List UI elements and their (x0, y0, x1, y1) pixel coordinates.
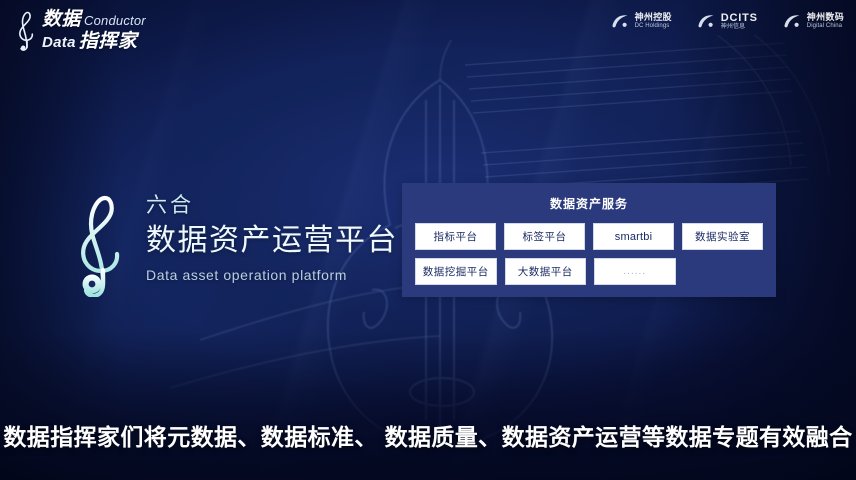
brand-logo: 数据 Conductor Data 指挥家 (14, 9, 146, 51)
data-asset-service-panel: 数据资产服务 指标平台 标签平台 smartbi 数据实验室 数据挖掘平台 大数… (402, 183, 776, 297)
brand-cn-2: 指挥家 (79, 32, 138, 51)
partner-logo-dc-holdings: 神州控股 DC Holdings (610, 11, 672, 31)
product-title-block: 六合 数据资产运营平台 Data asset operation platfor… (72, 188, 398, 297)
partner-cn-label: 神州数码 (807, 13, 844, 23)
service-tile-data-lab[interactable]: 数据实验室 (682, 223, 763, 250)
service-tile-more[interactable]: ...... (594, 258, 676, 285)
partner-cn-label: 神州控股 (635, 13, 672, 23)
brand-en-data: Data (42, 35, 76, 50)
service-tile-data-mining-platform[interactable]: 数据挖掘平台 (415, 258, 497, 285)
partner-logo-dcits: DCITS 神州信息 (696, 11, 758, 31)
partner-name-group: 神州控股 DC Holdings (635, 13, 672, 29)
service-tile-grid: 指标平台 标签平台 smartbi 数据实验室 数据挖掘平台 大数据平台 ...… (415, 223, 763, 285)
partner-en-label: Digital China (807, 23, 844, 30)
product-english-subtitle: Data asset operation platform (146, 267, 398, 283)
slide-caption: 数据指挥家们将元数据、数据标准、 数据质量、数据资产运营等数据专题有效融合 (0, 418, 856, 452)
product-text-group: 六合 数据资产运营平台 Data asset operation platfor… (146, 188, 398, 283)
partner-en-label: 神州信息 (721, 24, 758, 31)
brand-wordmark: 数据 Conductor Data 指挥家 (42, 10, 146, 51)
treble-clef-icon (72, 192, 134, 297)
partner-cn-label: DCITS (721, 12, 758, 24)
swirl-logo-icon (610, 11, 630, 31)
presentation-slide: 数据 Conductor Data 指挥家 神州控股 DC Holdings (0, 0, 856, 480)
swirl-logo-icon (782, 11, 802, 31)
brand-cn-1: 数据 (42, 10, 81, 29)
service-tile-smartbi[interactable]: smartbi (593, 223, 674, 250)
service-tile-empty-slot (684, 258, 764, 285)
service-tile-row: 数据挖掘平台 大数据平台 ...... (415, 258, 763, 285)
partner-logo-group: 神州控股 DC Holdings DCITS 神州信息 神州数码 Digital… (610, 11, 844, 31)
service-tile-tag-platform[interactable]: 标签平台 (504, 223, 585, 250)
brand-line-1: 数据 Conductor (42, 10, 146, 29)
brand-en-conductor: Conductor (84, 14, 146, 27)
service-tile-row: 指标平台 标签平台 smartbi 数据实验室 (415, 223, 763, 250)
partner-name-group: 神州数码 Digital China (807, 13, 844, 29)
service-tile-indicator-platform[interactable]: 指标平台 (415, 223, 496, 250)
service-tile-big-data-platform[interactable]: 大数据平台 (505, 258, 587, 285)
treble-clef-icon (14, 9, 40, 51)
product-title: 数据资产运营平台 (146, 221, 398, 260)
brand-line-2: Data 指挥家 (42, 32, 146, 51)
product-subtitle: 六合 (146, 193, 398, 219)
swirl-logo-icon (696, 11, 716, 31)
partner-logo-digital-china: 神州数码 Digital China (782, 11, 844, 31)
panel-title: 数据资产服务 (402, 195, 776, 212)
partner-name-group: DCITS 神州信息 (721, 12, 758, 31)
partner-en-label: DC Holdings (635, 23, 672, 30)
